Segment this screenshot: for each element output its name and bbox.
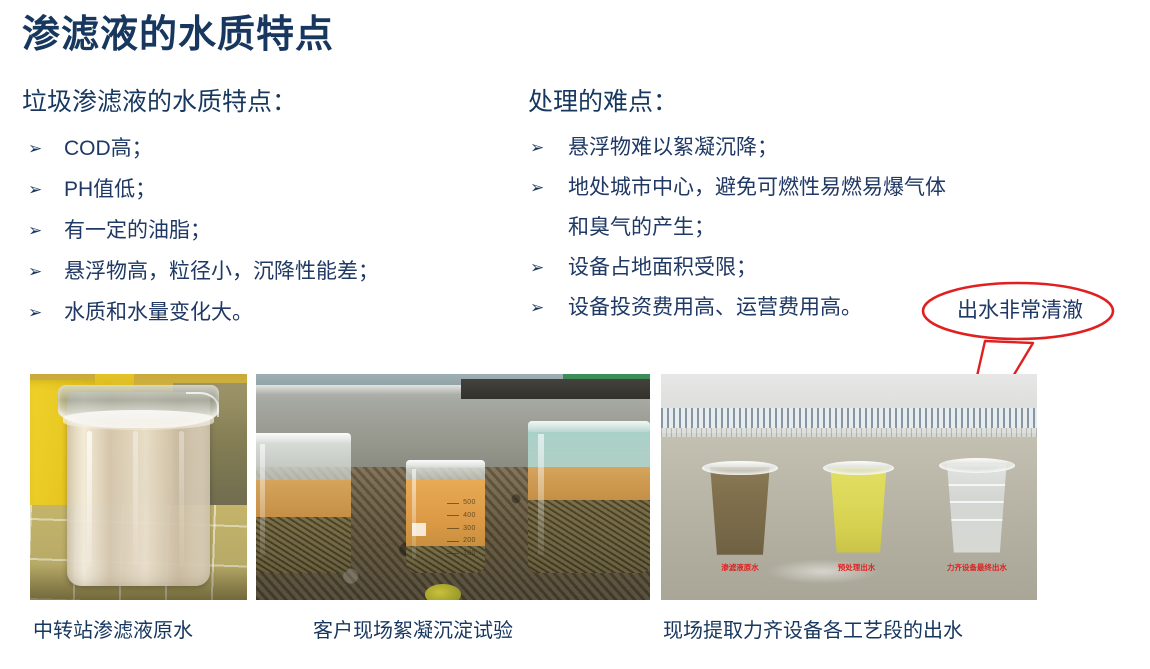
photo2-beaker-rim bbox=[528, 421, 650, 432]
photo-raw-leachate-image bbox=[30, 374, 247, 600]
photo1-beaker-highlight bbox=[133, 431, 138, 567]
photo1-beaker-spout bbox=[186, 392, 218, 417]
chevron-bullet-icon: ➢ bbox=[22, 128, 64, 169]
photo3-cup-label-pretreated: 预处理出水 bbox=[838, 563, 876, 573]
list-item-label: PH值低； bbox=[64, 169, 502, 210]
photo3-cup-ring bbox=[945, 519, 1009, 521]
photo2-graduation-mark: 500 bbox=[463, 499, 476, 506]
photo2-beaker-midlayer bbox=[256, 480, 351, 516]
list-item-label: 水质和水量变化大。 bbox=[64, 292, 502, 333]
chevron-bullet-icon: ➢ bbox=[22, 292, 64, 333]
list-item: ➢ COD高； bbox=[22, 128, 502, 169]
list-item: ➢ 地处城市中心，避免可燃性易燃易爆气体 和臭气的产生； bbox=[528, 168, 1073, 248]
callout-label: 出水非常清澈 bbox=[945, 297, 1095, 325]
photo2-beaker-center: 500 400 300 200 100 bbox=[406, 460, 485, 573]
photo-caption-treatment-stages: 现场提取力齐设备各工艺段的出水 bbox=[663, 617, 963, 645]
photo-flocculation-test: 500 400 300 200 100 bbox=[256, 374, 650, 600]
list-item-label: 有一定的油脂； bbox=[64, 210, 502, 251]
photo3-cup-liquid bbox=[943, 464, 1011, 552]
photo2-beaker-rim bbox=[256, 433, 351, 443]
list-item-label: COD高； bbox=[64, 128, 502, 169]
photo3-cup-ring bbox=[945, 501, 1009, 503]
list-item-label: 地处城市中心，避免可燃性易燃易爆气体 和臭气的产生； bbox=[568, 168, 1073, 248]
photo2-graduation-mark: 300 bbox=[463, 525, 476, 532]
slide-canvas: 渗滤液的水质特点 垃圾渗滤液的水质特点： ➢ COD高； ➢ PH值低； ➢ 有… bbox=[0, 0, 1150, 669]
chevron-bullet-icon: ➢ bbox=[528, 248, 568, 288]
photo2-beaker-rim bbox=[406, 460, 485, 468]
photo3-cup-pretreated bbox=[826, 467, 890, 553]
photo-treatment-stages-image: 渗滤液原水 预处理出水 力齐设备最终出水 bbox=[661, 374, 1037, 600]
chevron-bullet-icon: ➢ bbox=[528, 128, 568, 168]
list-item: ➢ 设备占地面积受限； bbox=[528, 248, 1073, 288]
photo2-beaker-midlayer bbox=[528, 467, 650, 500]
photo2-graduation-mark: 100 bbox=[463, 550, 476, 557]
photo2-beaker-sludge bbox=[528, 500, 650, 573]
list-item-label: 设备占地面积受限； bbox=[568, 248, 1073, 288]
photo-caption-raw-leachate: 中转站渗滤液原水 bbox=[33, 617, 193, 645]
photo3-cup-label-final: 力齐设备最终出水 bbox=[947, 563, 1007, 573]
photo3-cup-final bbox=[943, 464, 1011, 552]
left-column-heading: 垃圾渗滤液的水质特点： bbox=[22, 84, 502, 120]
photo1-beaker-highlight bbox=[179, 431, 184, 567]
list-item: ➢ 悬浮物高，粒径小，沉降性能差； bbox=[22, 251, 502, 292]
photo1-beaker-highlight bbox=[87, 431, 92, 567]
photo3-cup-rim bbox=[823, 461, 895, 476]
photo-raw-leachate bbox=[30, 374, 247, 600]
photo-flocculation-test-image: 500 400 300 200 100 bbox=[256, 374, 650, 600]
list-item: ➢ 水质和水量变化大。 bbox=[22, 292, 502, 333]
right-content-column: 处理的难点： ➢ 悬浮物难以絮凝沉降； ➢ 地处城市中心，避免可燃性易燃易爆气体… bbox=[528, 84, 1073, 328]
photo2-beaker-left bbox=[256, 433, 351, 573]
photo2-beaker-highlight bbox=[260, 444, 265, 556]
photo2-graduation-mark: 400 bbox=[463, 512, 476, 519]
right-column-heading: 处理的难点： bbox=[528, 84, 1073, 120]
photo3-cup-label-raw: 渗滤液原水 bbox=[721, 563, 759, 573]
photo3-cup-liquid bbox=[826, 467, 890, 553]
photo-caption-flocculation-test: 客户现场絮凝沉淀试验 bbox=[313, 617, 513, 645]
list-item-label: 悬浮物高，粒径小，沉降性能差； bbox=[64, 251, 502, 292]
chevron-bullet-icon: ➢ bbox=[22, 169, 64, 210]
chevron-bullet-icon: ➢ bbox=[528, 168, 568, 208]
photo3-cup-raw bbox=[706, 467, 774, 555]
list-item-label: 悬浮物难以絮凝沉降； bbox=[568, 128, 1073, 168]
photo2-beaker-highlight bbox=[412, 469, 416, 559]
page-title: 渗滤液的水质特点 bbox=[22, 9, 334, 61]
list-item: ➢ PH值低； bbox=[22, 169, 502, 210]
photo3-cup-ring bbox=[945, 484, 1009, 486]
photo2-beaker-sludge bbox=[256, 517, 351, 573]
photo2-leaf bbox=[425, 584, 460, 600]
list-item: ➢ 悬浮物难以絮凝沉降； bbox=[528, 128, 1073, 168]
chevron-bullet-icon: ➢ bbox=[22, 210, 64, 251]
photo2-beaker-right bbox=[528, 421, 650, 572]
photo2-dark-tank-edge bbox=[461, 379, 650, 399]
photo2-graduation-mark: 200 bbox=[463, 537, 476, 544]
photo2-beaker-highlight bbox=[538, 434, 544, 555]
photo3-cup-liquid bbox=[706, 467, 774, 555]
chevron-bullet-icon: ➢ bbox=[22, 251, 64, 292]
left-content-column: 垃圾渗滤液的水质特点： ➢ COD高； ➢ PH值低； ➢ 有一定的油脂； ➢ … bbox=[22, 84, 502, 333]
photo-treatment-stages: 渗滤液原水 预处理出水 力齐设备最终出水 bbox=[661, 374, 1037, 600]
left-bullet-list: ➢ COD高； ➢ PH值低； ➢ 有一定的油脂； ➢ 悬浮物高，粒径小，沉降性… bbox=[22, 128, 502, 333]
chevron-bullet-icon: ➢ bbox=[528, 288, 568, 328]
list-item: ➢ 有一定的油脂； bbox=[22, 210, 502, 251]
photo3-vent-grille bbox=[661, 408, 1037, 428]
